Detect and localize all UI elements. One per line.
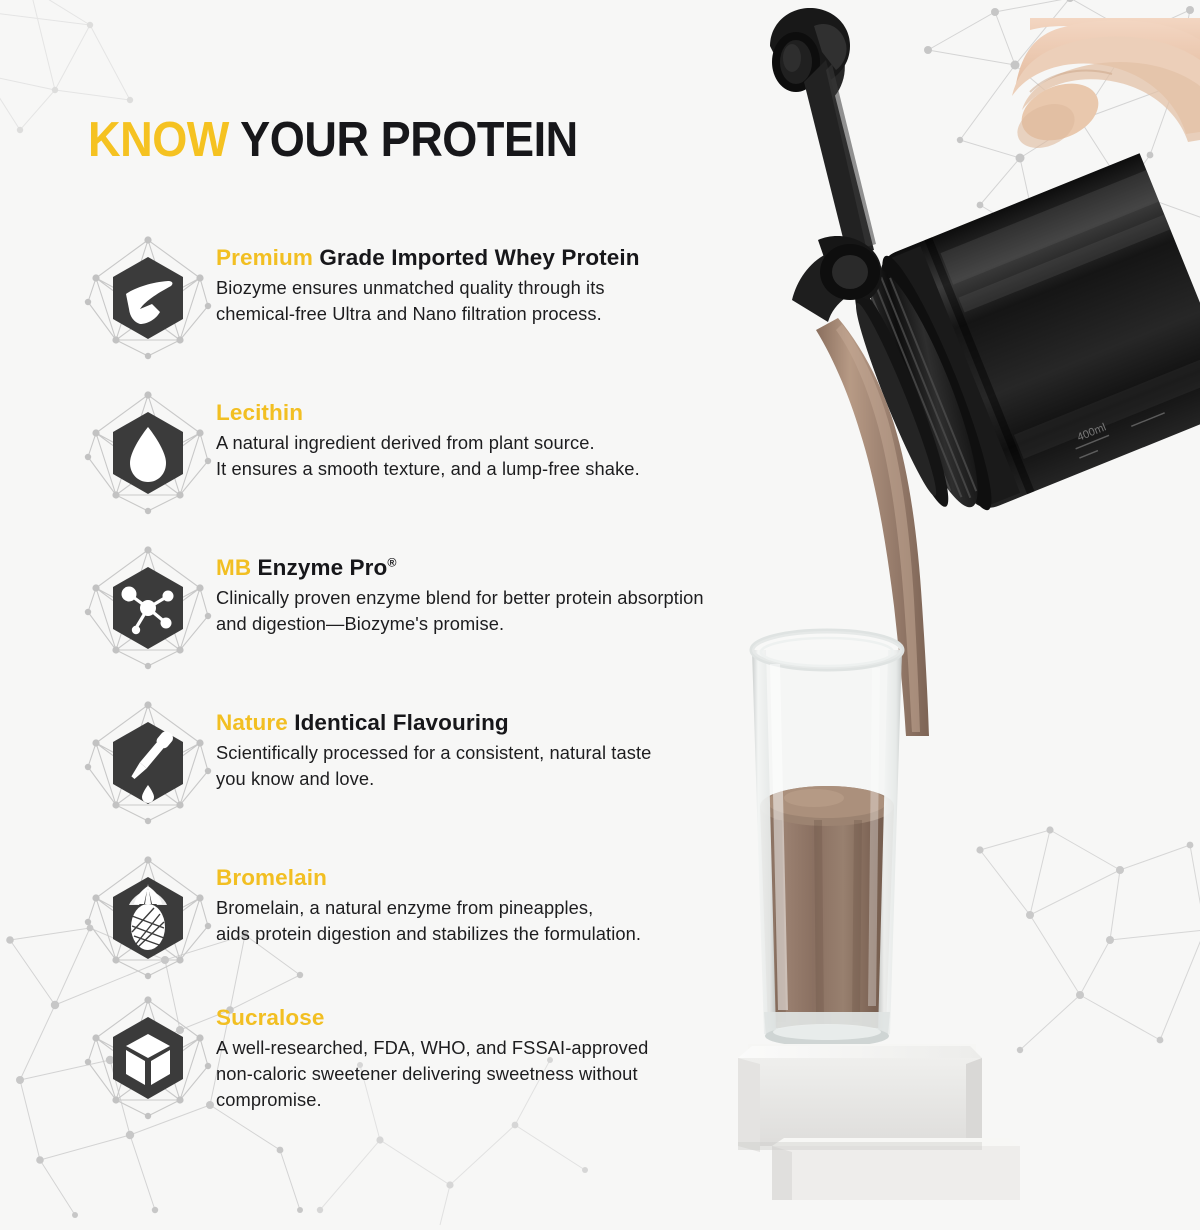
feature-title-rest: Enzyme Pro	[251, 555, 387, 580]
feature-title: Bromelain	[216, 866, 641, 891]
feature-description: Clinically proven enzyme blend for bette…	[216, 585, 704, 637]
cube-icon	[82, 992, 214, 1124]
page-title-highlight: KNOW	[88, 113, 229, 167]
infographic-canvas: KNOW YOUR PROTEIN Premium	[0, 0, 1200, 1200]
feature-title: Sucralose	[216, 1006, 648, 1031]
feature-text: Sucralose A well-researched, FDA, WHO, a…	[216, 1006, 648, 1113]
feature-title-highlight: MB	[216, 555, 251, 580]
feature-title-highlight: Lecithin	[216, 400, 303, 425]
feature-description: Bromelain, a natural enzyme from pineapp…	[216, 895, 641, 947]
page-title: KNOW YOUR PROTEIN	[88, 116, 578, 165]
feature-text: Nature Identical Flavouring Scientifical…	[216, 711, 651, 792]
feature-text: Bromelain Bromelain, a natural enzyme fr…	[216, 866, 641, 947]
feature-title-rest: Grade Imported Whey Protein	[313, 245, 640, 270]
tall-glass-of-shake	[752, 631, 902, 1047]
feature-description: A well-researched, FDA, WHO, and FSSAI-a…	[216, 1035, 648, 1113]
water-droplet-icon	[82, 387, 214, 519]
product-photo: 400ml	[730, 0, 1200, 1200]
feature-title: Nature Identical Flavouring	[216, 711, 651, 736]
feature-title-highlight: Bromelain	[216, 865, 327, 890]
feature-title: Premium Grade Imported Whey Protein	[216, 246, 640, 271]
feature-title-highlight: Nature	[216, 710, 288, 735]
feature-title: MB Enzyme Pro®	[216, 556, 704, 581]
bottle-flip-spout	[770, 8, 882, 322]
white-pedestal-blocks	[738, 1044, 1020, 1200]
feature-title-rest: Identical Flavouring	[288, 710, 509, 735]
feature-text: Lecithin A natural ingredient derived fr…	[216, 401, 640, 482]
hand-holding-bottle	[1010, 18, 1200, 156]
feature-title: Lecithin	[216, 401, 640, 426]
feature-description: A natural ingredient derived from plant …	[216, 430, 640, 482]
feature-text: Premium Grade Imported Whey Protein Bioz…	[216, 246, 640, 327]
feature-title-highlight: Premium	[216, 245, 313, 270]
protein-scoop-icon	[82, 232, 214, 364]
feature-text: MB Enzyme Pro® Clinically proven enzyme …	[216, 556, 704, 637]
dropper-pipette-icon	[82, 697, 214, 829]
trademark-symbol: ®	[387, 556, 396, 570]
molecule-icon	[82, 542, 214, 674]
feature-description: Scientifically processed for a consisten…	[216, 740, 651, 792]
feature-title-highlight: Sucralose	[216, 1005, 324, 1030]
feature-description: Biozyme ensures unmatched quality throug…	[216, 275, 640, 327]
pineapple-icon	[82, 852, 214, 984]
page-title-rest: YOUR PROTEIN	[229, 113, 578, 167]
